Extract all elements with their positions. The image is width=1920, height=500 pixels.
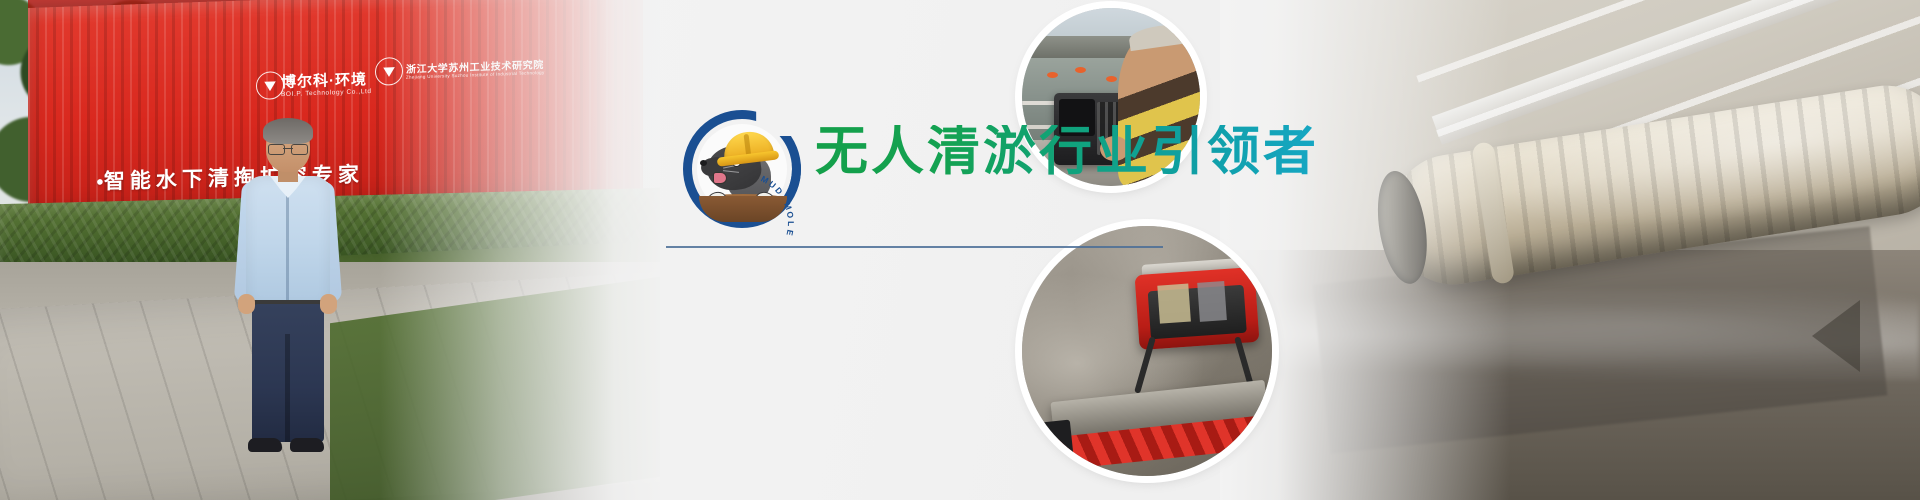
trousers [252, 304, 324, 442]
left-hand [238, 294, 255, 314]
mud-mole-logo[interactable]: MUD MOLE [683, 110, 801, 228]
left-photo-fade [380, 0, 660, 500]
logo-curved-letter: E [785, 229, 796, 237]
shirt-placket [286, 188, 289, 306]
divider-rule [666, 246, 1163, 248]
logo-curved-letter [779, 194, 789, 201]
flow-arrow-icon [1812, 300, 1860, 372]
center-content: MUD MOLE 无人清淤行业引领者 [660, 0, 1280, 500]
right-photo-discharge-pipe [1220, 0, 1920, 500]
person-engineer [232, 122, 342, 452]
right-shoe [290, 438, 324, 452]
logo-curved-letter: O [785, 211, 796, 220]
glasses-bridge [283, 148, 293, 149]
logo-curved-letter: L [786, 221, 796, 227]
logo-curved-text: MUD MOLE [683, 110, 801, 228]
eyeglasses-icon [268, 144, 308, 154]
right-hand [320, 294, 337, 314]
left-shoe [248, 438, 282, 452]
hero-banner: 博尔科·环境 BOI.P. Technology Co.,Ltd 浙江大学苏州工… [0, 0, 1920, 500]
page-title: 无人清淤行业引领者 [815, 125, 1319, 178]
left-photo-container-site: 博尔科·环境 BOI.P. Technology Co.,Ltd 浙江大学苏州工… [0, 0, 660, 500]
hair [263, 118, 313, 144]
slogan-bullet-icon: ● [96, 174, 104, 189]
